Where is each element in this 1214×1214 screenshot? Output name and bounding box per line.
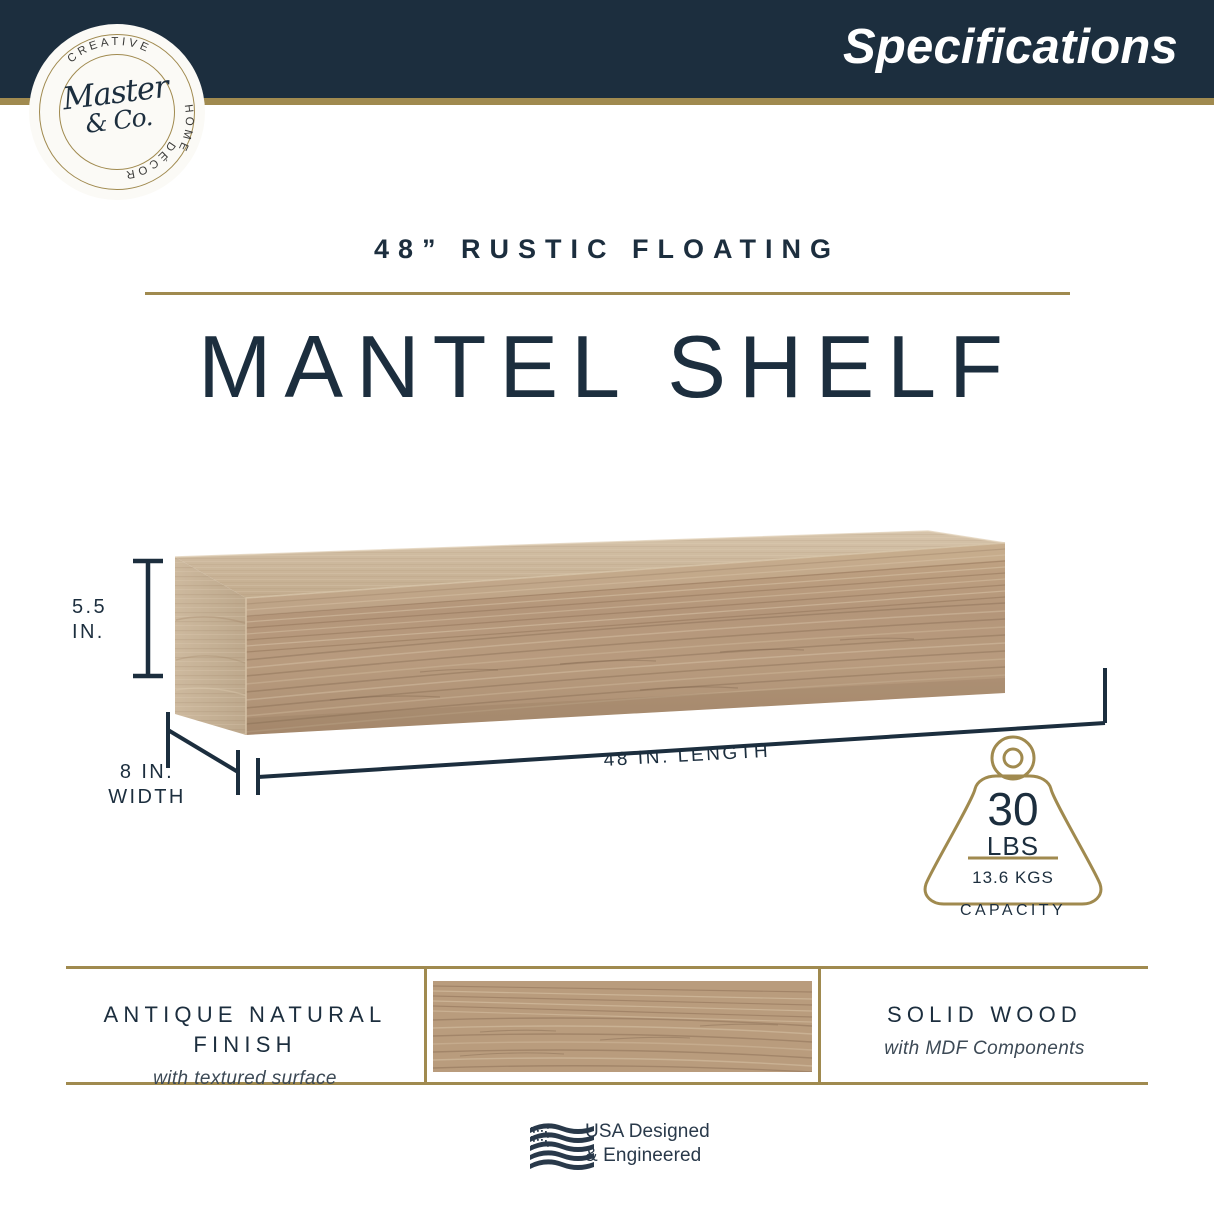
footer: USA Designed & Engineered [0, 1118, 1214, 1178]
feature-material-title: SOLID WOOD [821, 1000, 1148, 1030]
capacity-value: 30 [918, 786, 1108, 832]
width-value: 8 IN. [82, 760, 212, 785]
feature-divider-left [424, 966, 427, 1085]
spec-sheet: Specifications CREATIVE HOME DÉCOR Maste… [0, 0, 1214, 1214]
height-dimension-line [133, 561, 163, 676]
height-unit: IN. [72, 620, 107, 645]
feature-material-subtitle: with MDF Components [821, 1038, 1148, 1060]
feature-finish: ANTIQUE NATURAL FINISH with textured sur… [66, 1000, 424, 1090]
feature-finish-subtitle: with textured surface [66, 1068, 424, 1090]
capacity-metric: 13.6 KGS [918, 868, 1108, 888]
width-dimension-label: 8 IN. WIDTH [82, 760, 212, 810]
capacity-badge: 30 LBS 13.6 KGS [918, 733, 1108, 893]
feature-material: SOLID WOOD with MDF Components [821, 1000, 1148, 1060]
capacity-label: CAPACITY [918, 902, 1108, 920]
footer-line2: & Engineered [585, 1144, 710, 1168]
height-dimension-label: 5.5 IN. [72, 595, 107, 645]
feature-rule-top [66, 966, 1148, 969]
feature-finish-title: ANTIQUE NATURAL FINISH [66, 1000, 424, 1060]
footer-text: USA Designed & Engineered [585, 1120, 710, 1168]
capacity-unit: LBS [918, 833, 1108, 859]
wood-grain-swatch [433, 981, 812, 1072]
footer-line1: USA Designed [585, 1120, 710, 1144]
width-unit: WIDTH [82, 785, 212, 810]
height-value: 5.5 [72, 595, 107, 620]
